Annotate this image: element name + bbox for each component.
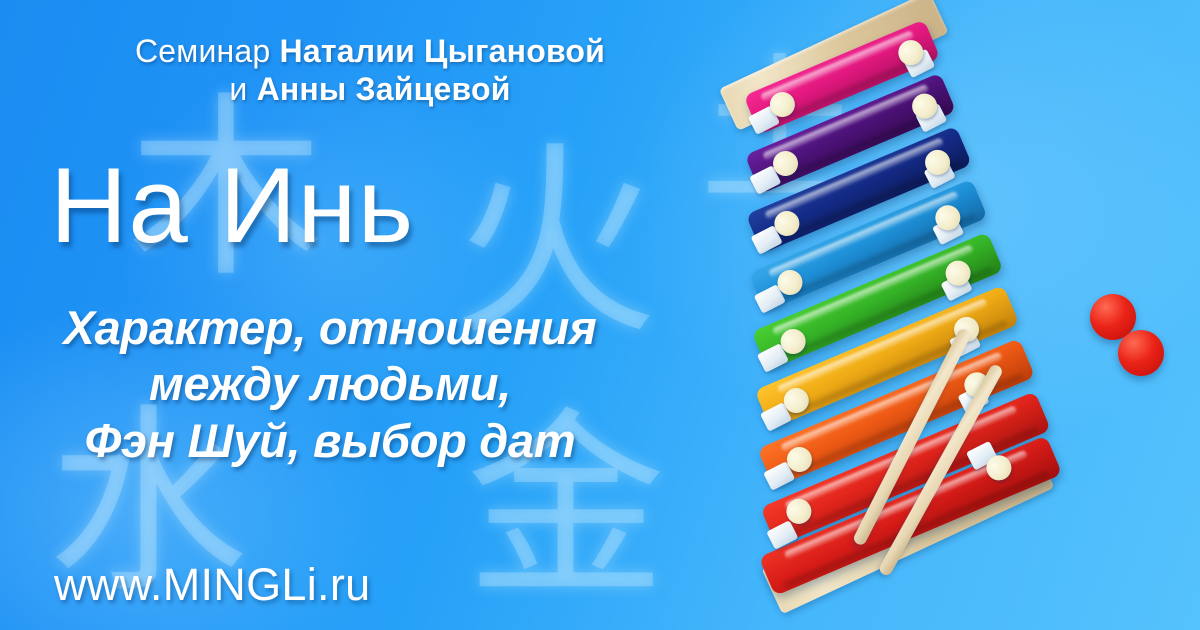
site-url[interactable]: www.MINGLi.ru bbox=[54, 559, 370, 611]
presenter-conjunction: и bbox=[229, 71, 256, 107]
mallet-head-icon bbox=[1118, 330, 1164, 376]
xylophone-photo bbox=[660, 0, 1200, 630]
subtitle-line-2: между людьми, bbox=[20, 356, 640, 412]
presenter-name-1: Наталии Цыгановой bbox=[280, 33, 606, 69]
subtitle: Характер, отношения между людьми, Фэн Шу… bbox=[20, 300, 640, 469]
text-content: Семинар Наталии Цыгановой и Анны Зайцево… bbox=[0, 0, 700, 630]
presenter-prefix: Семинар bbox=[135, 33, 280, 69]
subtitle-line-1: Характер, отношения bbox=[20, 300, 640, 356]
presenter-name-2: Анны Зайцевой bbox=[257, 71, 511, 107]
page-title: На Инь bbox=[50, 152, 414, 259]
presenter-line: Семинар Наталии Цыгановой и Анны Зайцево… bbox=[40, 33, 700, 109]
subtitle-line-3: Фэн Шуй, выбор дат bbox=[20, 413, 640, 469]
promo-banner: 木 火 土 金 水 bbox=[0, 0, 1200, 630]
